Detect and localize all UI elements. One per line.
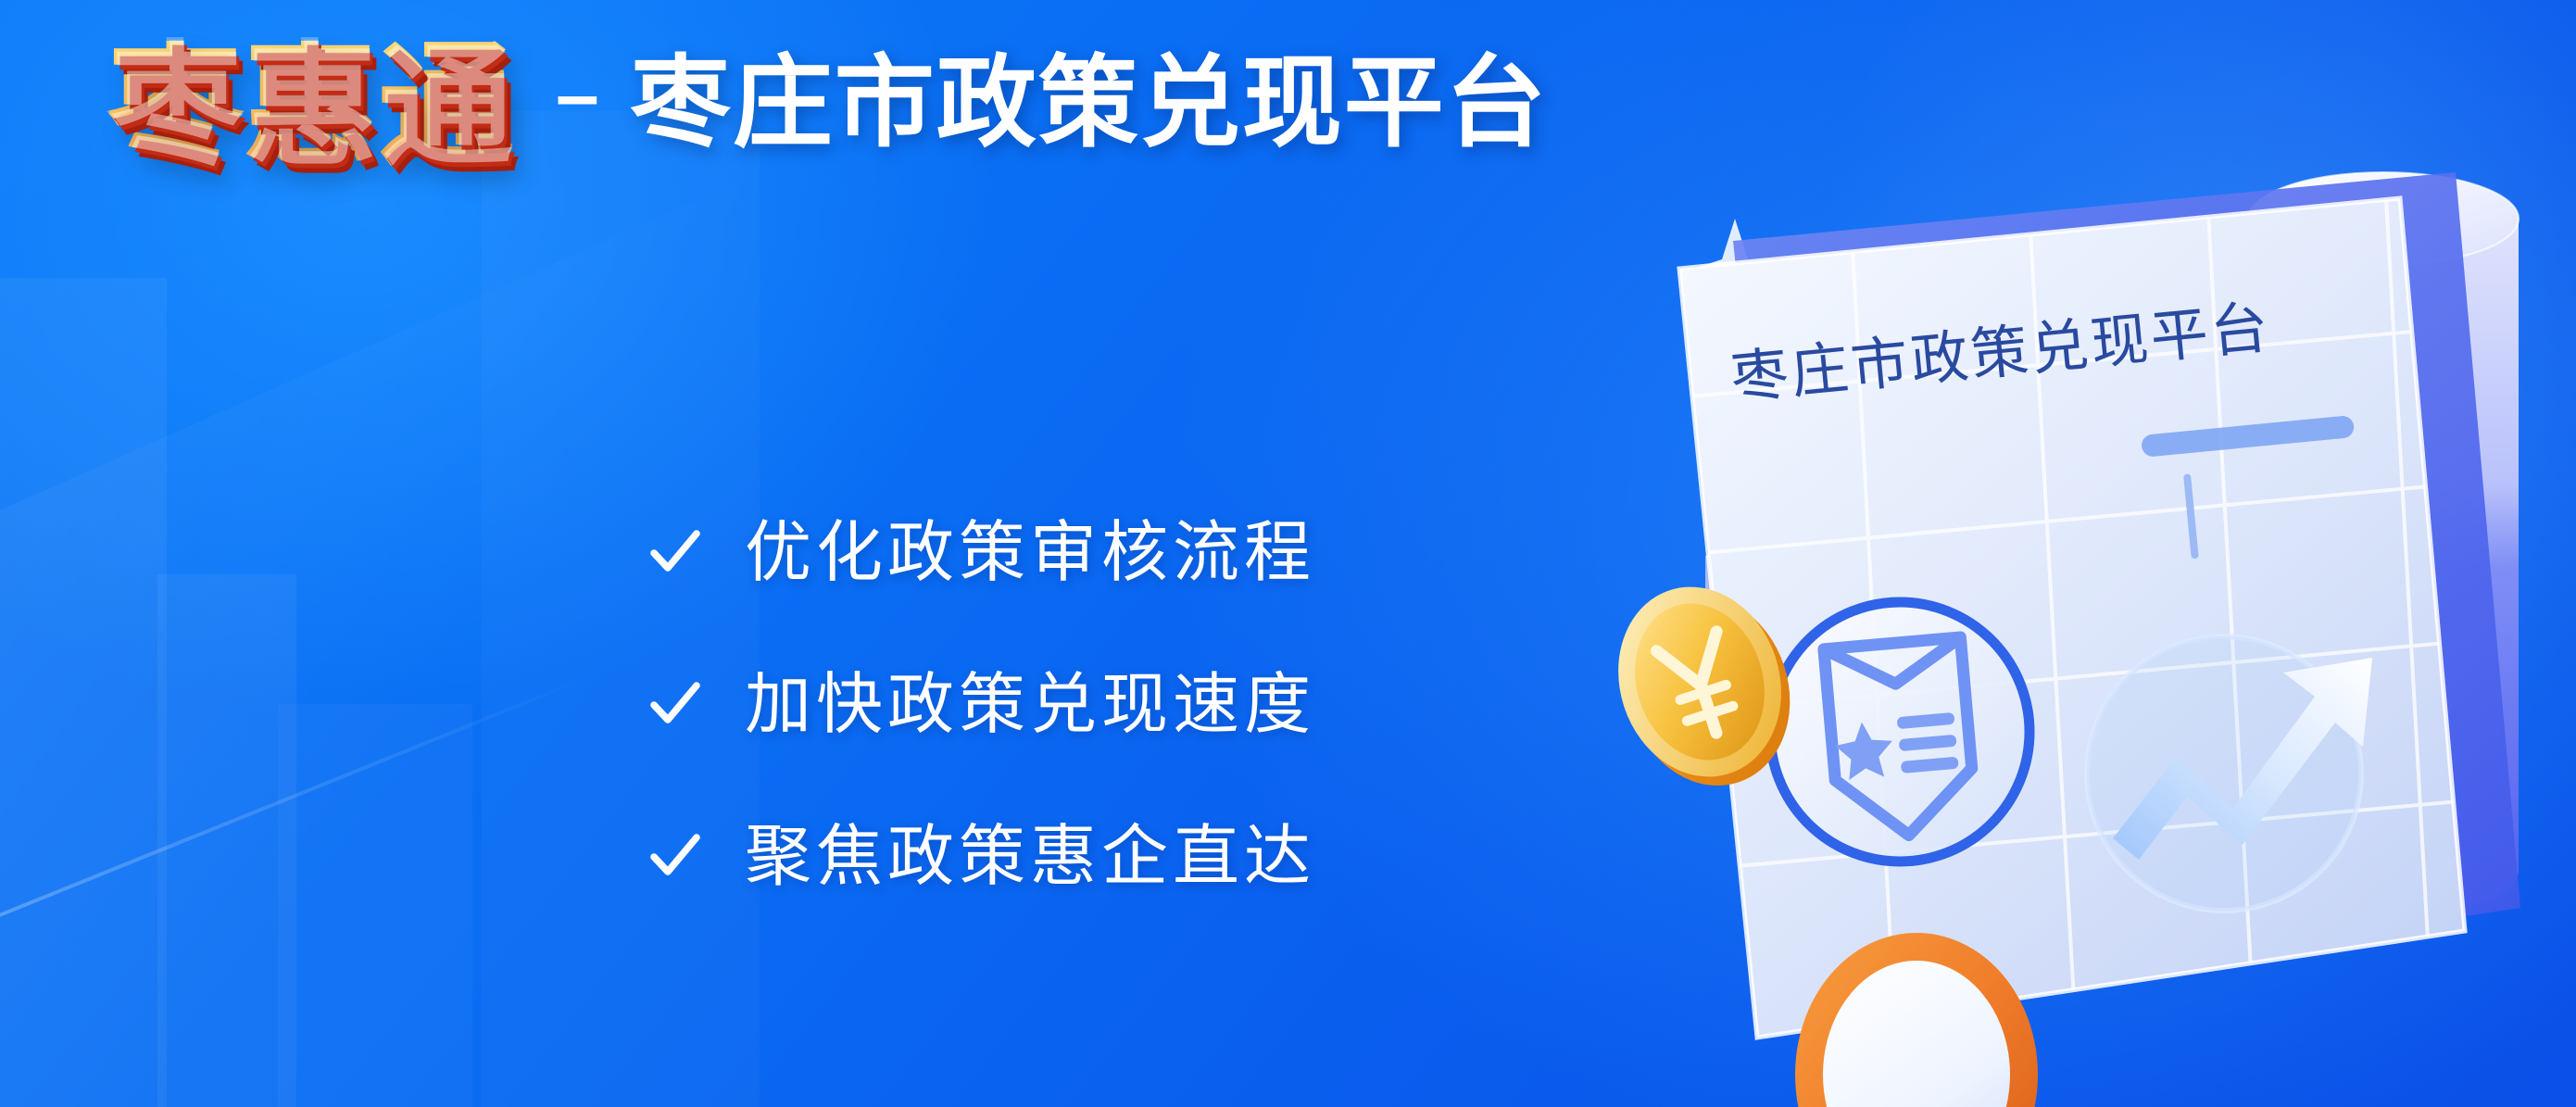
feature-list: 优化政策审核流程 加快政策兑现速度 聚焦政策惠企直达 — [648, 519, 1315, 889]
shield-star-badge-icon — [1770, 602, 2029, 862]
feature-label: 优化政策审核流程 — [745, 519, 1315, 585]
background-building-1 — [0, 278, 167, 1107]
banner-subtitle: 枣庄市政策兑现平台 — [631, 54, 1548, 154]
orange-ring-icon — [1809, 947, 2024, 1107]
policy-platform-banner: 枣惠通 – 枣庄市政策兑现平台 优化政策审核流程 加快政策兑现速度 — [0, 0, 2576, 1107]
check-icon — [648, 677, 702, 731]
background-light-streak — [0, 672, 597, 938]
background-building-2 — [157, 574, 296, 1107]
background-diagonal-light — [0, 181, 741, 1107]
brand-title: 枣惠通 — [109, 41, 515, 172]
feature-item: 优化政策审核流程 — [648, 519, 1315, 585]
banner-headline: 枣惠通 – 枣庄市政策兑现平台 — [109, 41, 1548, 172]
feature-label: 加快政策兑现速度 — [745, 671, 1315, 737]
platform-card: 枣庄市政策兑现平台 — [1668, 182, 2491, 1047]
check-icon — [648, 829, 702, 883]
banner-illustration: 枣庄市政策兑现平台 — [1594, 0, 2576, 1107]
background-building-3 — [278, 704, 472, 1107]
feature-item: 加快政策兑现速度 — [648, 671, 1315, 737]
check-icon — [648, 525, 702, 579]
title-separator: – — [556, 56, 599, 133]
feature-item: 聚焦政策惠企直达 — [648, 823, 1315, 889]
feature-label: 聚焦政策惠企直达 — [745, 823, 1315, 889]
